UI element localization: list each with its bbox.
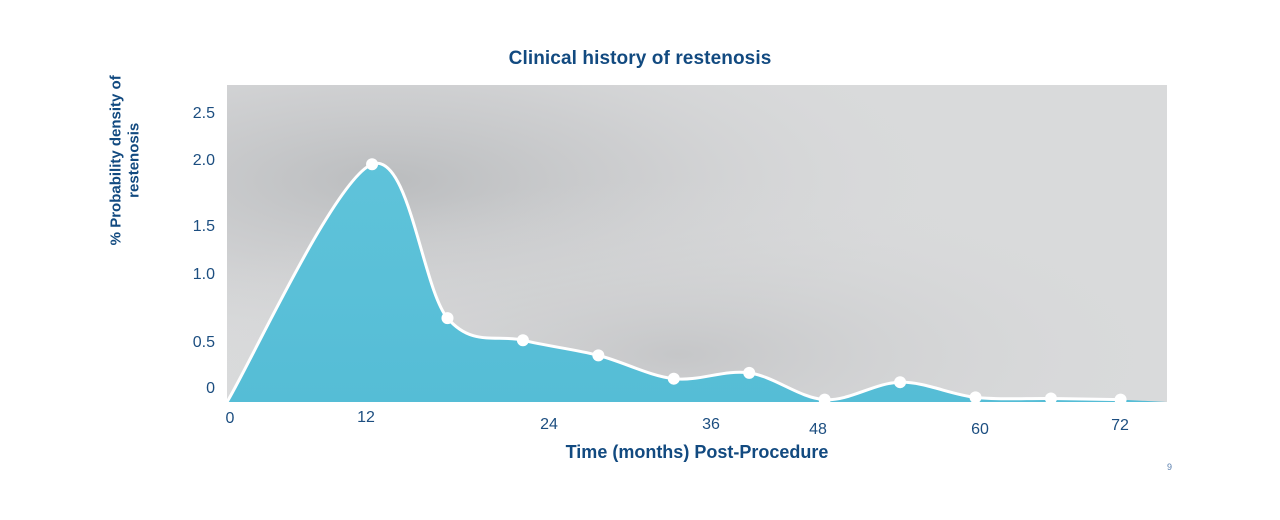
x-tick-label: 24 <box>540 416 558 434</box>
x-tick-label: 12 <box>357 409 375 427</box>
x-tick-label: 72 <box>1111 417 1129 435</box>
x-tick-label: 48 <box>809 421 827 439</box>
x-tick-label: 36 <box>702 416 720 434</box>
slide-canvas: Clinical history of restenosis % Probabi… <box>0 0 1280 520</box>
footnote-number: 9 <box>1167 462 1172 472</box>
x-tick-label: 60 <box>971 421 989 439</box>
x-axis-title: Time (months) Post-Procedure <box>227 442 1167 463</box>
x-tick-label: 0 <box>226 410 235 428</box>
